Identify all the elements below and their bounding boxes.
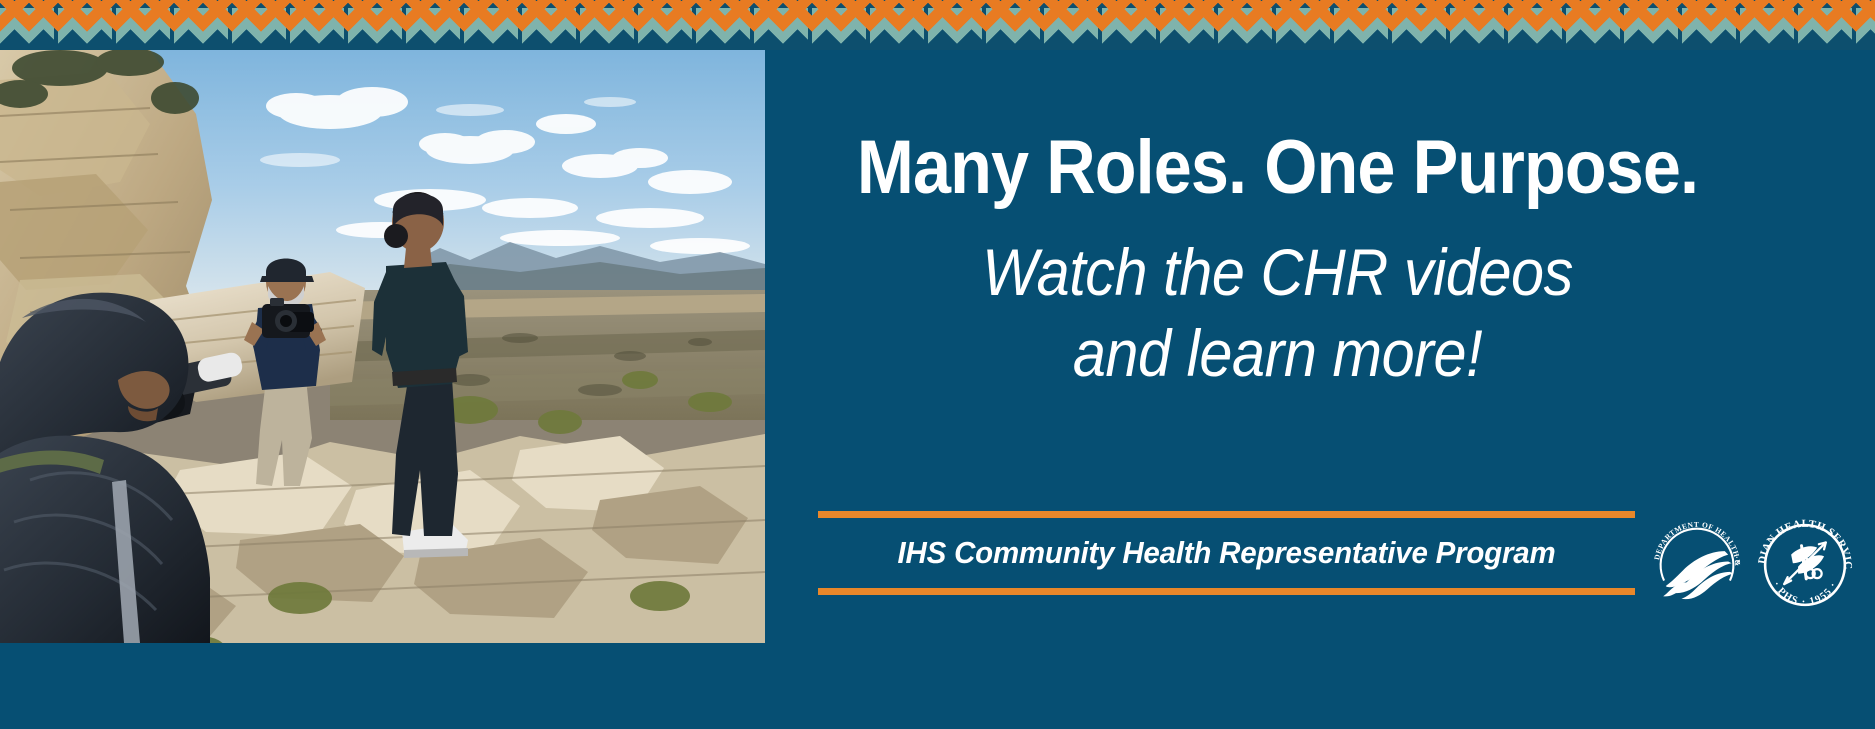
hero-photo xyxy=(0,50,765,643)
subheading: Watch the CHR videos and learn more! xyxy=(740,232,1816,393)
hero-photo-illustration xyxy=(0,50,765,643)
orange-rule-top xyxy=(818,511,1635,518)
subheading-line-1: Watch the CHR videos xyxy=(740,232,1816,313)
hhs-seal: DEPARTMENT OF HEALTH & HUMAN SERVICES ·U… xyxy=(1645,513,1749,617)
program-name: IHS Community Health Representative Prog… xyxy=(838,518,1614,588)
copy-panel: Many Roles. One Purpose. Watch the CHR v… xyxy=(765,50,1875,729)
hhs-seal-graphic: DEPARTMENT OF HEALTH & HUMAN SERVICES ·U… xyxy=(1645,513,1749,617)
svg-text:DEPARTMENT OF HEALTH & HUMAN S: DEPARTMENT OF HEALTH & HUMAN SERVICES xyxy=(1645,513,1742,567)
orange-rule-bottom xyxy=(818,588,1635,595)
ihs-chr-banner: Many Roles. One Purpose. Watch the CHR v… xyxy=(0,0,1875,729)
ihs-seal: INDIAN HEALTH SERVICE · PHS · 1955 · xyxy=(1753,513,1857,617)
southwest-chevron-border xyxy=(0,0,1875,50)
svg-text:· PHS · 1955 ·: · PHS · 1955 · xyxy=(1770,580,1839,608)
agency-seals: DEPARTMENT OF HEALTH & HUMAN SERVICES ·U… xyxy=(1645,505,1860,625)
ihs-seal-graphic: INDIAN HEALTH SERVICE · PHS · 1955 · xyxy=(1753,513,1857,617)
program-strip: IHS Community Health Representative Prog… xyxy=(818,511,1635,595)
orange-chevron-row xyxy=(0,0,1875,50)
page-title: Many Roles. One Purpose. xyxy=(740,130,1816,206)
subheading-line-2: and learn more! xyxy=(740,313,1816,394)
